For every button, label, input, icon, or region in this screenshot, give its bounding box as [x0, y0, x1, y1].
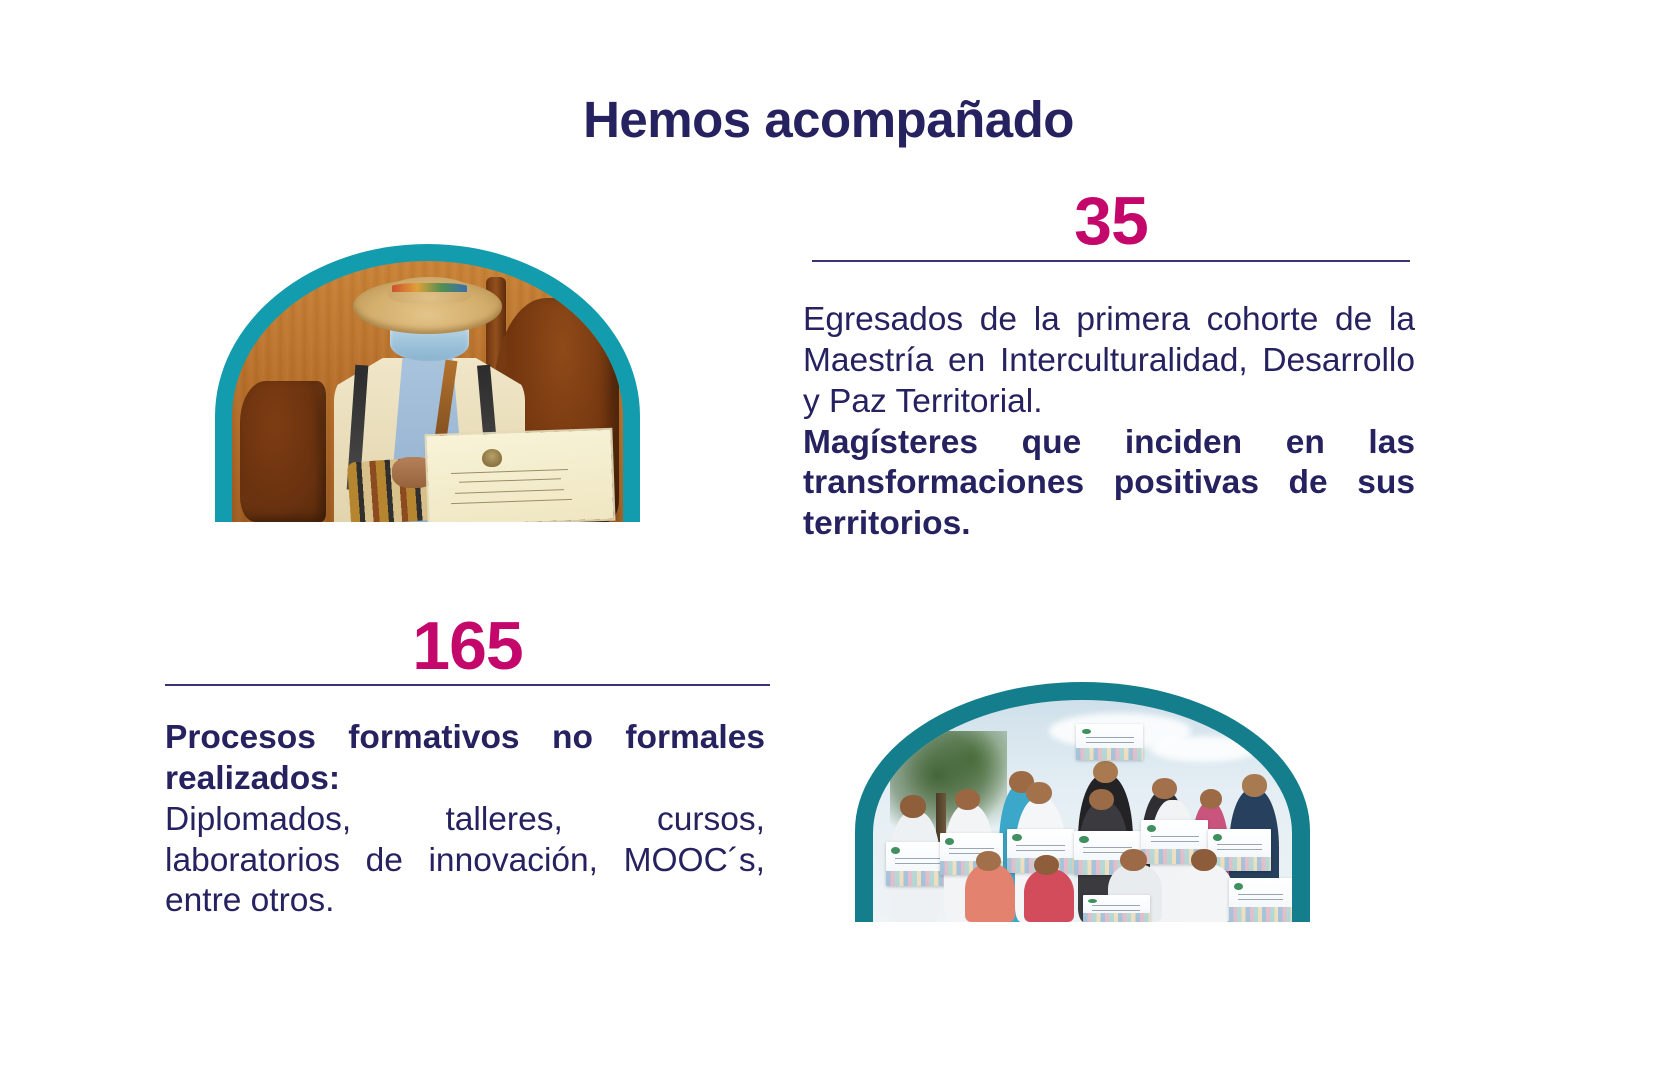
person-head: [900, 795, 926, 817]
wood-carving-left: [240, 381, 326, 522]
stat-35-body-bold: Magísteres que inciden en las transforma…: [803, 423, 1415, 546]
certificate: [1208, 829, 1271, 871]
person-head: [1242, 774, 1267, 796]
person-head: [1093, 761, 1118, 783]
certificate: [1083, 895, 1150, 922]
photo-group: [855, 682, 1310, 922]
photo-graduate-image: [232, 261, 623, 522]
stat-35-body-regular: Egresados de la primera cohorte de la Ma…: [803, 300, 1415, 423]
stat-165-body-bold: Procesos formativos no formales realizad…: [165, 718, 765, 800]
photo-group-image: [873, 700, 1292, 922]
stat-number-165: 165: [165, 612, 770, 680]
person-head: [1120, 849, 1147, 871]
stat-number-35: 35: [812, 187, 1410, 255]
person-head: [1200, 789, 1223, 809]
slide-canvas: Hemos acompañado: [0, 0, 1657, 1081]
graduate-diploma: [426, 430, 613, 522]
diploma-crest-icon: [482, 449, 502, 468]
page-title: Hemos acompañado: [0, 92, 1657, 148]
stat-body-165: Procesos formativos no formales realizad…: [165, 718, 765, 922]
graduate-hat-band: [392, 283, 466, 291]
certificate: [1229, 878, 1292, 922]
group-scene: [873, 700, 1292, 922]
person-head: [976, 851, 1001, 871]
person-head: [1026, 782, 1052, 804]
person: [1024, 869, 1074, 922]
person-head: [1191, 849, 1217, 871]
certificate: [1076, 724, 1143, 760]
stat-165-body-regular: Diplomados, talleres, cursos, laboratori…: [165, 800, 765, 923]
person-head: [1089, 789, 1114, 810]
person-head: [955, 789, 980, 810]
cloud: [1150, 736, 1259, 763]
stat-divider-35: [812, 260, 1410, 262]
person: [965, 864, 1015, 922]
person: [1179, 864, 1233, 922]
stat-divider-165: [165, 684, 770, 686]
stat-body-35: Egresados de la primera cohorte de la Ma…: [803, 300, 1415, 545]
photo-graduate: [215, 244, 640, 522]
person-head: [1152, 778, 1177, 799]
graduate-scene: [232, 261, 623, 522]
